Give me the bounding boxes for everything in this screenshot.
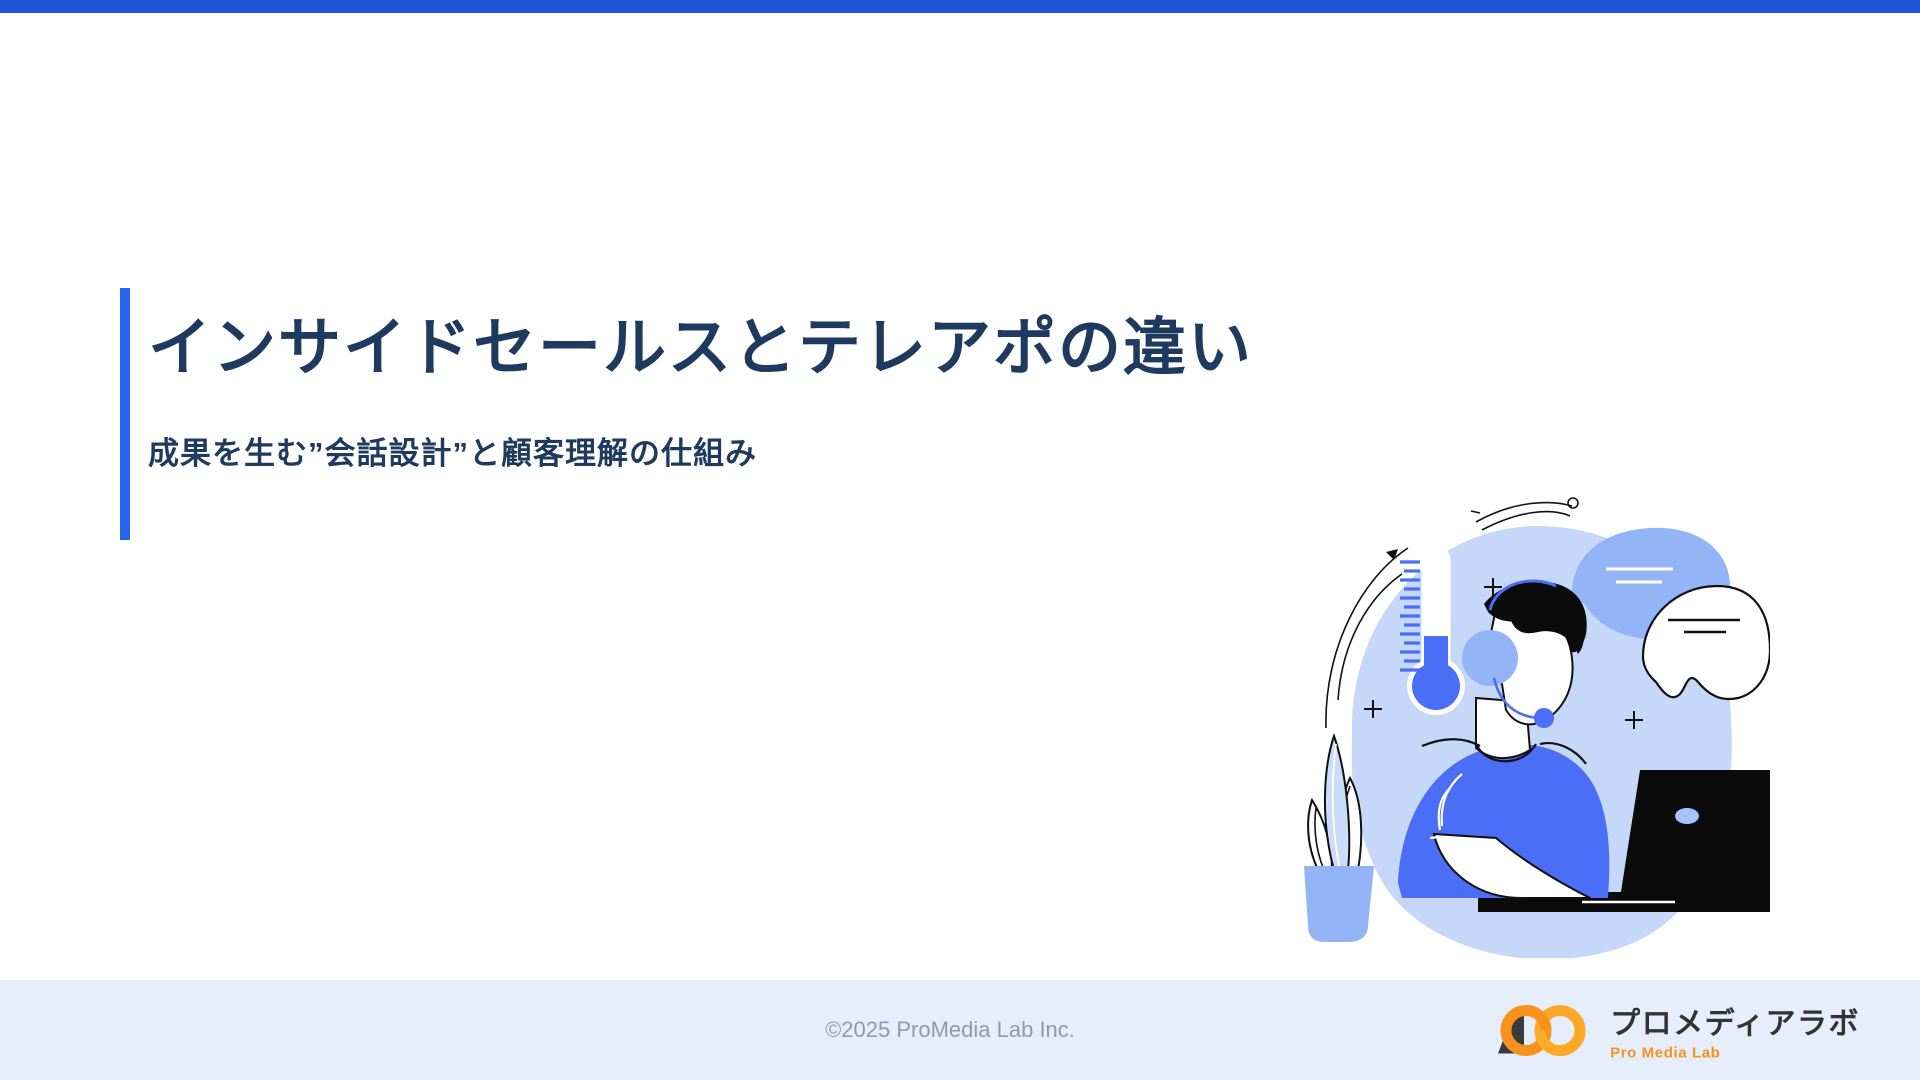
- brand-name-en: Pro Media Lab: [1610, 1045, 1860, 1062]
- footer-bar: ©2025 ProMedia Lab Inc. プロメディアラボ Pro Med…: [0, 980, 1920, 1080]
- top-accent-bar: [0, 0, 1920, 13]
- slide-canvas: インサイドセールスとテレアポの違い 成果を生む”会話設計”と顧客理解の仕組み: [0, 13, 1920, 980]
- page-title: インサイドセールスとテレアポの違い: [148, 314, 1253, 383]
- page-subtitle: 成果を生む”会話設計”と顧客理解の仕組み: [148, 428, 757, 473]
- arc-lines-top: [1471, 498, 1578, 530]
- brand-logo-text: プロメディアラボ Pro Media Lab: [1610, 999, 1860, 1062]
- infinity-logo-icon: [1494, 1001, 1592, 1059]
- brand-logo: プロメディアラボ Pro Media Lab: [1494, 999, 1860, 1062]
- title-accent-bar: [120, 288, 130, 540]
- brand-name-jp: プロメディアラボ: [1610, 999, 1860, 1043]
- customer-support-agent-illustration: [1290, 478, 1770, 958]
